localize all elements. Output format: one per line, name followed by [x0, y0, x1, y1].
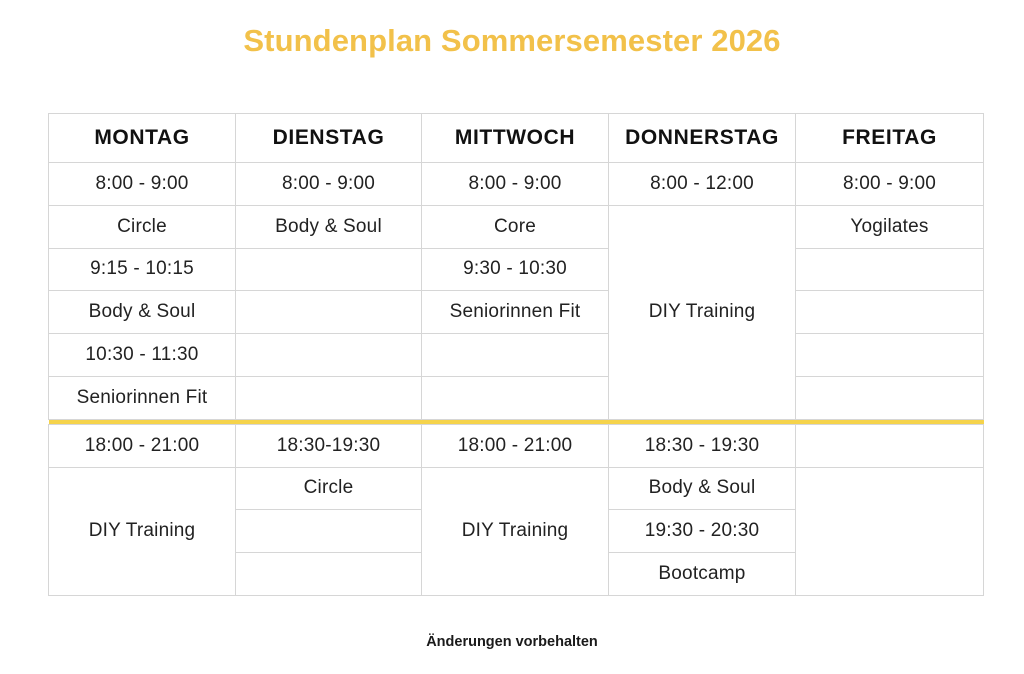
empty-cell-freitag — [796, 376, 984, 419]
timeslot-mittwoch-1800: 18:00 - 21:00 — [422, 424, 609, 467]
class-montag-diy-training[interactable]: DIY Training — [49, 467, 236, 595]
empty-cell-dienstag — [236, 248, 422, 291]
empty-cell-dienstag — [236, 376, 422, 419]
timeslot-donnerstag-1930: 19:30 - 20:30 — [609, 510, 796, 553]
empty-cell-freitag — [796, 467, 984, 595]
class-donnerstag-body-soul[interactable]: Body & Soul — [609, 467, 796, 510]
empty-cell-freitag — [796, 334, 984, 377]
footer-disclaimer: Änderungen vorbehalten — [0, 634, 1024, 650]
class-mittwoch-core[interactable]: Core — [422, 205, 609, 248]
empty-cell-dienstag — [236, 553, 422, 596]
table-row: 9:15 - 10:15 9:30 - 10:30 — [49, 248, 984, 291]
table-row: 10:30 - 11:30 — [49, 334, 984, 377]
class-donnerstag-diy-training[interactable]: DIY Training — [609, 205, 796, 419]
timeslot-donnerstag-1830: 18:30 - 19:30 — [609, 424, 796, 467]
empty-cell-dienstag — [236, 334, 422, 377]
class-montag-seniorinnen-fit[interactable]: Seniorinnen Fit — [49, 376, 236, 419]
class-donnerstag-bootcamp[interactable]: Bootcamp — [609, 553, 796, 596]
timeslot-mittwoch-0800: 8:00 - 9:00 — [422, 163, 609, 206]
empty-cell-freitag — [796, 248, 984, 291]
day-header-montag: MONTAG — [49, 114, 236, 163]
table-header-row: MONTAG DIENSTAG MITTWOCH DONNERSTAG FREI… — [49, 114, 984, 163]
schedule-table: MONTAG DIENSTAG MITTWOCH DONNERSTAG FREI… — [48, 113, 984, 596]
timeslot-montag-0915: 9:15 - 10:15 — [49, 248, 236, 291]
empty-cell-mittwoch — [422, 376, 609, 419]
class-montag-circle[interactable]: Circle — [49, 205, 236, 248]
table-row: 8:00 - 9:00 8:00 - 9:00 8:00 - 9:00 8:00… — [49, 163, 984, 206]
class-mittwoch-diy-training[interactable]: DIY Training — [422, 467, 609, 595]
day-header-dienstag: DIENSTAG — [236, 114, 422, 163]
table-row: Circle Body & Soul Core DIY Training Yog… — [49, 205, 984, 248]
day-header-mittwoch: MITTWOCH — [422, 114, 609, 163]
timeslot-dienstag-1830: 18:30-19:30 — [236, 424, 422, 467]
page-title: Stundenplan Sommersemester 2026 — [0, 0, 1024, 59]
class-freitag-yogilates[interactable]: Yogilates — [796, 205, 984, 248]
timeslot-mittwoch-0930: 9:30 - 10:30 — [422, 248, 609, 291]
empty-cell-dienstag — [236, 510, 422, 553]
timeslot-montag-1030: 10:30 - 11:30 — [49, 334, 236, 377]
table-row: DIY Training Circle DIY Training Body & … — [49, 467, 984, 510]
empty-cell-mittwoch — [422, 334, 609, 377]
timeslot-montag-0800: 8:00 - 9:00 — [49, 163, 236, 206]
schedule-table-container: MONTAG DIENSTAG MITTWOCH DONNERSTAG FREI… — [48, 113, 983, 596]
day-header-donnerstag: DONNERSTAG — [609, 114, 796, 163]
empty-cell-freitag — [796, 291, 984, 334]
timeslot-freitag-0800: 8:00 - 9:00 — [796, 163, 984, 206]
table-row: Seniorinnen Fit — [49, 376, 984, 419]
class-dienstag-circle[interactable]: Circle — [236, 467, 422, 510]
empty-cell-dienstag — [236, 291, 422, 334]
day-header-freitag: FREITAG — [796, 114, 984, 163]
timeslot-montag-1800: 18:00 - 21:00 — [49, 424, 236, 467]
class-dienstag-body-soul[interactable]: Body & Soul — [236, 205, 422, 248]
timeslot-dienstag-0800: 8:00 - 9:00 — [236, 163, 422, 206]
schedule-page: Stundenplan Sommersemester 2026 MONTAG D… — [0, 0, 1024, 674]
table-row: Body & Soul Seniorinnen Fit — [49, 291, 984, 334]
table-row: 18:00 - 21:00 18:30-19:30 18:00 - 21:00 … — [49, 424, 984, 467]
empty-cell-freitag — [796, 424, 984, 467]
class-mittwoch-seniorinnen-fit[interactable]: Seniorinnen Fit — [422, 291, 609, 334]
timeslot-donnerstag-0800: 8:00 - 12:00 — [609, 163, 796, 206]
class-montag-body-soul[interactable]: Body & Soul — [49, 291, 236, 334]
